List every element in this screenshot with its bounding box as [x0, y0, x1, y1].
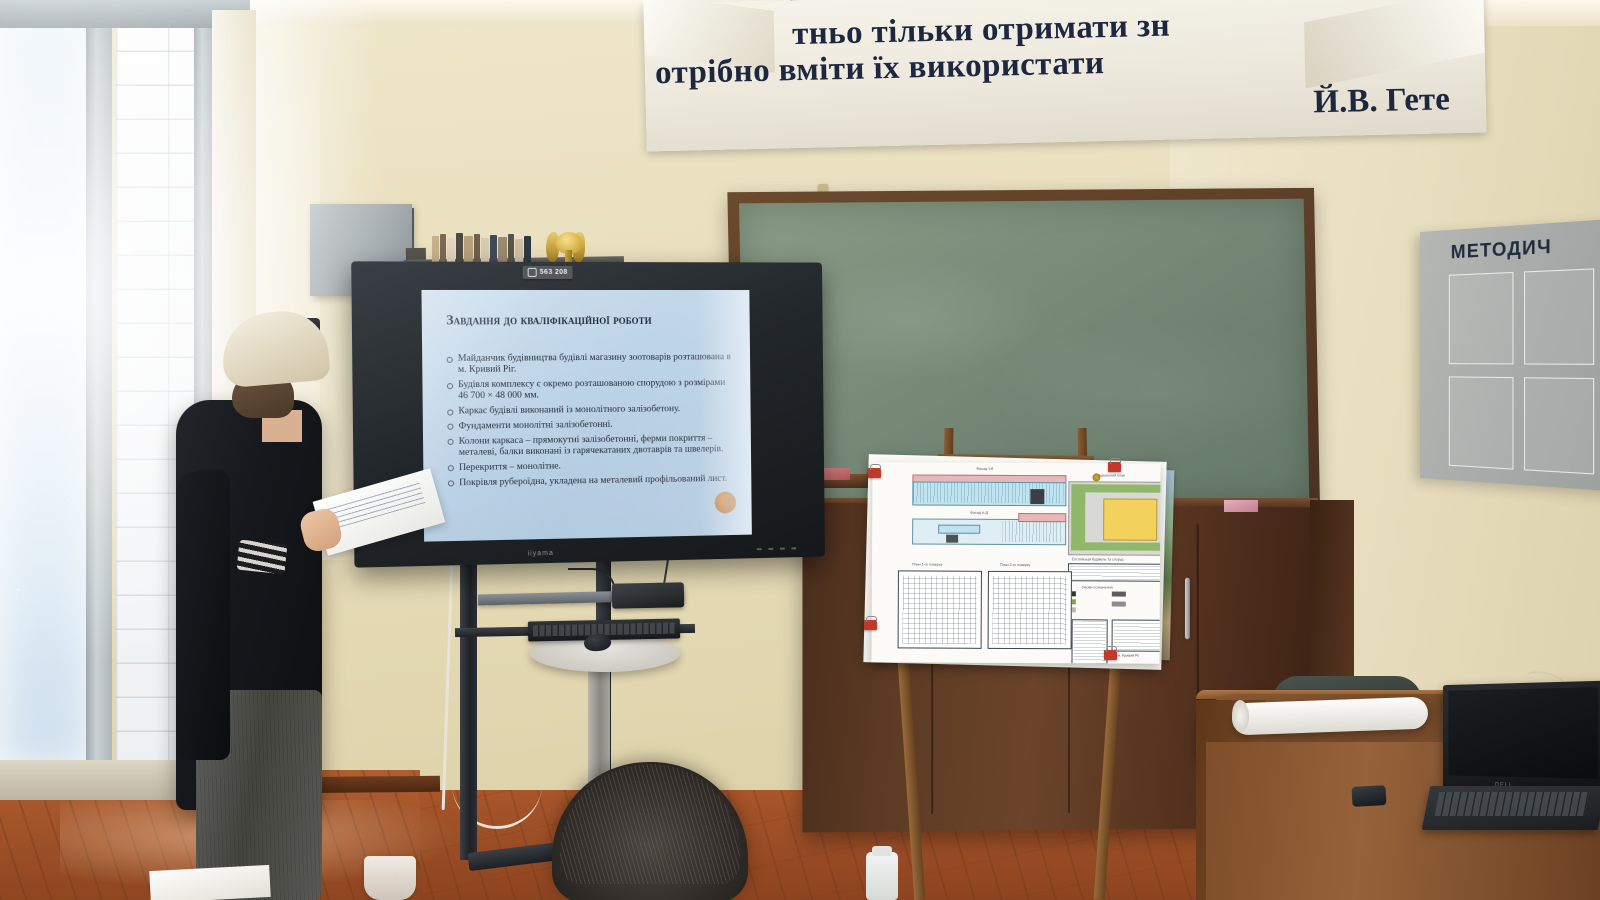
- board-cell: [1449, 272, 1514, 365]
- slide-bullet: Будівля комплексу є окремо розташованою …: [445, 377, 735, 402]
- screen-glare-right: [697, 290, 752, 536]
- elevation-1-label: Фасад 1-8: [976, 467, 993, 471]
- legend-label: Умови позначення: [1082, 585, 1113, 589]
- slide-bullet: Фундаменти монолітні залізобетонні.: [445, 417, 735, 432]
- input-source-icon: [528, 268, 537, 277]
- book: [456, 233, 463, 263]
- spec-table-label: Експлікація будівель та споруд: [1072, 557, 1123, 561]
- book: [515, 239, 523, 263]
- window-glass: [0, 0, 90, 770]
- paper-on-floor: [149, 865, 271, 900]
- slide-bullet: Перекриття – монолітне.: [446, 458, 736, 474]
- display-badge-text: 563 208: [540, 269, 568, 276]
- book: [508, 234, 514, 263]
- rolled-drawing[interactable]: [1232, 697, 1429, 736]
- laptop-keyboard-base[interactable]: [1422, 786, 1600, 830]
- book: [447, 238, 455, 263]
- binder-clip[interactable]: [1108, 462, 1121, 472]
- board-cell: [1524, 377, 1594, 474]
- book: [440, 234, 446, 262]
- floor-plan-2: [988, 571, 1072, 649]
- water-bottle[interactable]: [866, 852, 898, 900]
- elevation-2-label: Фасад А-Д: [970, 511, 988, 515]
- slide-title: Завдання до кваліфікаційної роботи: [446, 312, 728, 328]
- display-indicator-leds: [757, 547, 796, 550]
- banner-line-1: тньо тільки отримати зн: [792, 8, 1171, 54]
- slide-bullet: Покрівля рубероїдна, укладена на металев…: [446, 472, 736, 488]
- drawing-signature: м. Кривий Ріг: [1118, 654, 1140, 658]
- cabinet-handle[interactable]: [1185, 578, 1190, 640]
- display-input-badge: 563 208: [523, 266, 573, 279]
- elevation-2-entrance: [946, 535, 958, 543]
- desk-mouse[interactable]: [1351, 785, 1386, 807]
- display-screen[interactable]: Завдання до кваліфікаційної роботи Майда…: [421, 290, 751, 542]
- display-brand-label: iiyama: [528, 550, 554, 558]
- wifi-router: [612, 582, 684, 608]
- drawing-sheet-front[interactable]: Фасад 1-8 Фасад А-Д Генеральний план Екс…: [871, 462, 1160, 664]
- methodical-wall-board: МЕТОДИЧ: [1420, 218, 1600, 493]
- book: [524, 236, 531, 263]
- elevation-2-mullions: [1002, 521, 1062, 542]
- banner-line-2: отрібно вміти їх використати: [655, 45, 1105, 92]
- board-cell: [1524, 268, 1594, 365]
- binder-clip[interactable]: [868, 468, 881, 478]
- slide-bullet: Каркас будівлі виконаний із монолітного …: [445, 403, 735, 417]
- banner-author: Й.В. Гете: [1313, 81, 1450, 121]
- slide-bullet: Майданчик будівництва будівлі магазину з…: [445, 351, 735, 375]
- slide-bullet-list: Майданчик будівництва будівлі магазину з…: [445, 351, 736, 492]
- presenter-arm: [176, 470, 230, 760]
- wall-banner: тньо тільки отримати зн отрібно вміти їх…: [643, 0, 1486, 152]
- elevation-1-door: [1030, 489, 1044, 504]
- book: [464, 236, 473, 263]
- legend-swatch: [1112, 592, 1126, 597]
- floor-plan-1: [898, 570, 982, 648]
- drawing-table-left: [1071, 619, 1107, 663]
- site-plan: [1068, 481, 1160, 556]
- emblem-icon: [1092, 473, 1100, 481]
- drawing-table-right: [1112, 620, 1161, 652]
- board-cell: [1449, 376, 1514, 469]
- display-stand-column-left: [460, 560, 477, 860]
- pink-folder: [1224, 500, 1258, 512]
- binder-clip[interactable]: [864, 620, 877, 630]
- methodical-board-title: МЕТОДИЧ: [1451, 236, 1552, 264]
- presenter-sleeve-stripes: [237, 540, 288, 575]
- spec-table: [1068, 563, 1161, 582]
- book: [498, 237, 507, 263]
- book: [481, 238, 489, 263]
- book: [474, 234, 480, 263]
- elevation-2-window-band: [938, 525, 980, 534]
- book: [432, 236, 439, 262]
- classroom-scene: тньо тільки отримати зн отрібно вміти їх…: [0, 0, 1600, 900]
- binder-clip[interactable]: [1104, 650, 1117, 660]
- laptop-screen[interactable]: DELL: [1443, 681, 1600, 794]
- disposable-cup[interactable]: [364, 856, 416, 900]
- book: [490, 235, 497, 263]
- bottle-cap: [872, 846, 892, 856]
- window-frame-middle: [86, 0, 112, 790]
- plan-2-label: План 2-го поверху: [1000, 563, 1030, 567]
- plan-1-label: План 1-го поверху: [912, 562, 942, 566]
- slide-bullet: Колони каркаса – прямокутні залізобетонн…: [445, 432, 735, 458]
- laptop-keys[interactable]: [1434, 792, 1589, 816]
- legend-swatch: [1112, 602, 1126, 607]
